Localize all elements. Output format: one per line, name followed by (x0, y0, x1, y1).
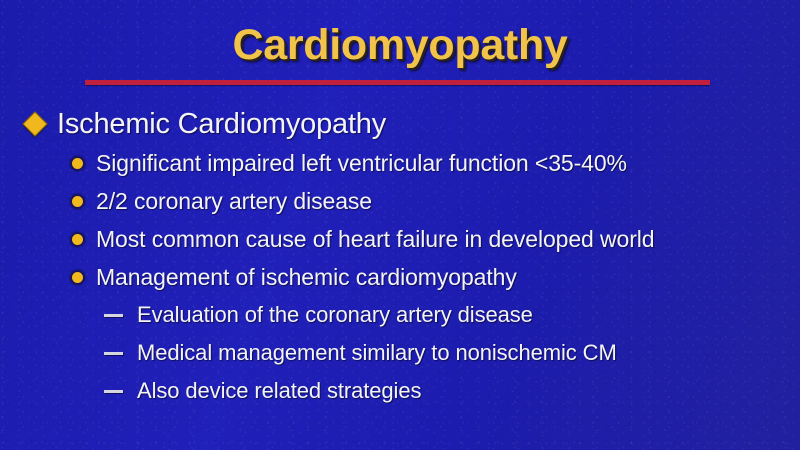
bullet-text: Evaluation of the coronary artery diseas… (137, 302, 533, 328)
bullet-text: Most common cause of heart failure in de… (96, 226, 655, 253)
bullet-item-level2: Significant impaired left ventricular fu… (0, 144, 800, 182)
bullet-item-level3: Also device related strategies (0, 372, 800, 410)
bullet-text: Management of ischemic cardiomyopathy (96, 264, 517, 291)
dot-bullet-icon (70, 194, 85, 209)
bullet-text: Ischemic Cardiomyopathy (57, 108, 386, 141)
bullet-item-level2: Most common cause of heart failure in de… (0, 220, 800, 258)
bullet-text: 2/2 coronary artery disease (96, 188, 372, 215)
bullet-text: Also device related strategies (137, 378, 421, 404)
bullet-item-level3: Evaluation of the coronary artery diseas… (0, 296, 800, 334)
slide-body-bullet-list: Ischemic Cardiomyopathy Significant impa… (0, 104, 800, 410)
dash-bullet-icon (104, 314, 123, 317)
bullet-item-level2: Management of ischemic cardiomyopathy (0, 258, 800, 296)
slide-title-area: Cardiomyopathy (0, 0, 800, 92)
presentation-slide: Cardiomyopathy Ischemic Cardiomyopathy S… (0, 0, 800, 450)
bullet-item-level2: 2/2 coronary artery disease (0, 182, 800, 220)
dash-bullet-icon (104, 352, 123, 355)
bullet-item-level1: Ischemic Cardiomyopathy (0, 104, 800, 144)
title-underline-rule (85, 80, 710, 85)
dash-bullet-icon (104, 390, 123, 393)
dot-bullet-icon (70, 270, 85, 285)
bullet-item-level3: Medical management similary to nonischem… (0, 334, 800, 372)
bullet-text: Significant impaired left ventricular fu… (96, 150, 627, 177)
bullet-text: Medical management similary to nonischem… (137, 340, 617, 366)
diamond-bullet-icon (22, 111, 47, 136)
dot-bullet-icon (70, 156, 85, 171)
dot-bullet-icon (70, 232, 85, 247)
page-title: Cardiomyopathy (0, 21, 800, 70)
